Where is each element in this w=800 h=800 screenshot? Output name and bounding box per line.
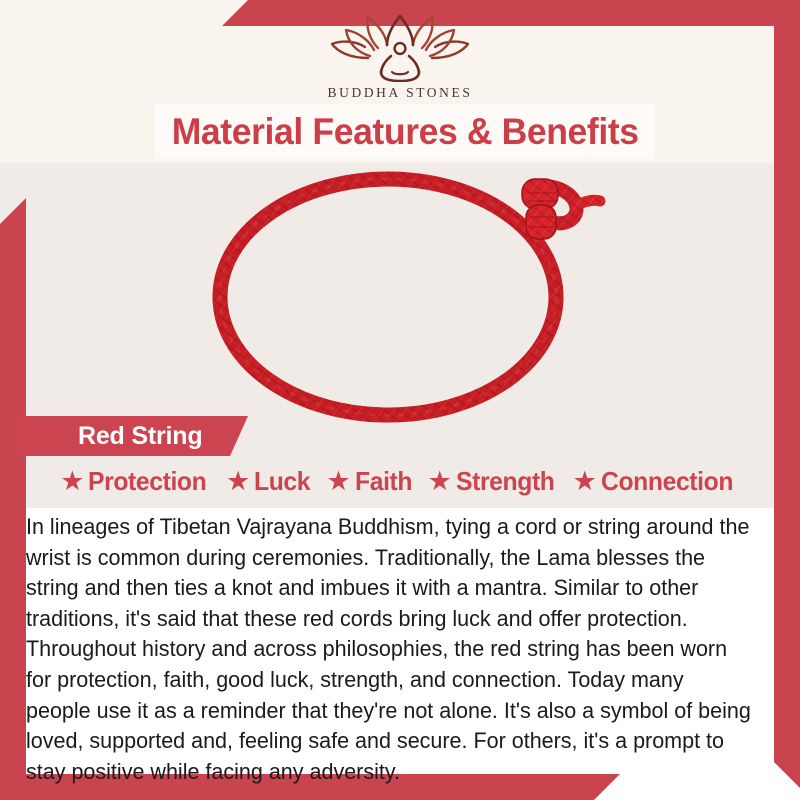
feature-label: Faith (355, 466, 412, 497)
brand-logo: BUDDHA STONES (0, 12, 800, 101)
star-icon: ★ (226, 468, 250, 495)
feature-label: Strength (456, 466, 555, 497)
product-image-red-string-bracelet (180, 165, 620, 423)
material-tag: Red String (18, 416, 248, 456)
lotus-meditation-icon (324, 12, 476, 82)
description-paragraph: In lineages of Tibetan Vajrayana Buddhis… (26, 512, 752, 787)
star-icon: ★ (60, 468, 84, 495)
star-icon: ★ (428, 468, 452, 495)
infographic-page: BUDDHA STONES Material Features & Benefi… (0, 0, 800, 800)
feature-item-luck: ★ Luck (226, 466, 313, 497)
headline-banner: Material Features & Benefits (155, 104, 655, 159)
page-title: Material Features & Benefits (172, 111, 639, 153)
feature-item-strength: ★ Strength (428, 466, 560, 497)
brand-wordmark: BUDDHA STONES (328, 85, 473, 101)
feature-label: Connection (601, 466, 733, 497)
feature-label: Luck (254, 466, 310, 497)
star-icon: ★ (326, 468, 350, 495)
feature-list: ★ Protection ★ Luck ★ Faith ★ Strength ★… (22, 466, 778, 497)
material-tag-label: Red String (18, 422, 232, 451)
decorative-ribbon-right (774, 0, 800, 788)
feature-label: Protection (88, 466, 206, 497)
feature-item-connection: ★ Connection (573, 466, 740, 497)
star-icon: ★ (573, 468, 597, 495)
feature-item-protection: ★ Protection (60, 466, 213, 497)
feature-item-faith: ★ Faith (326, 466, 414, 497)
